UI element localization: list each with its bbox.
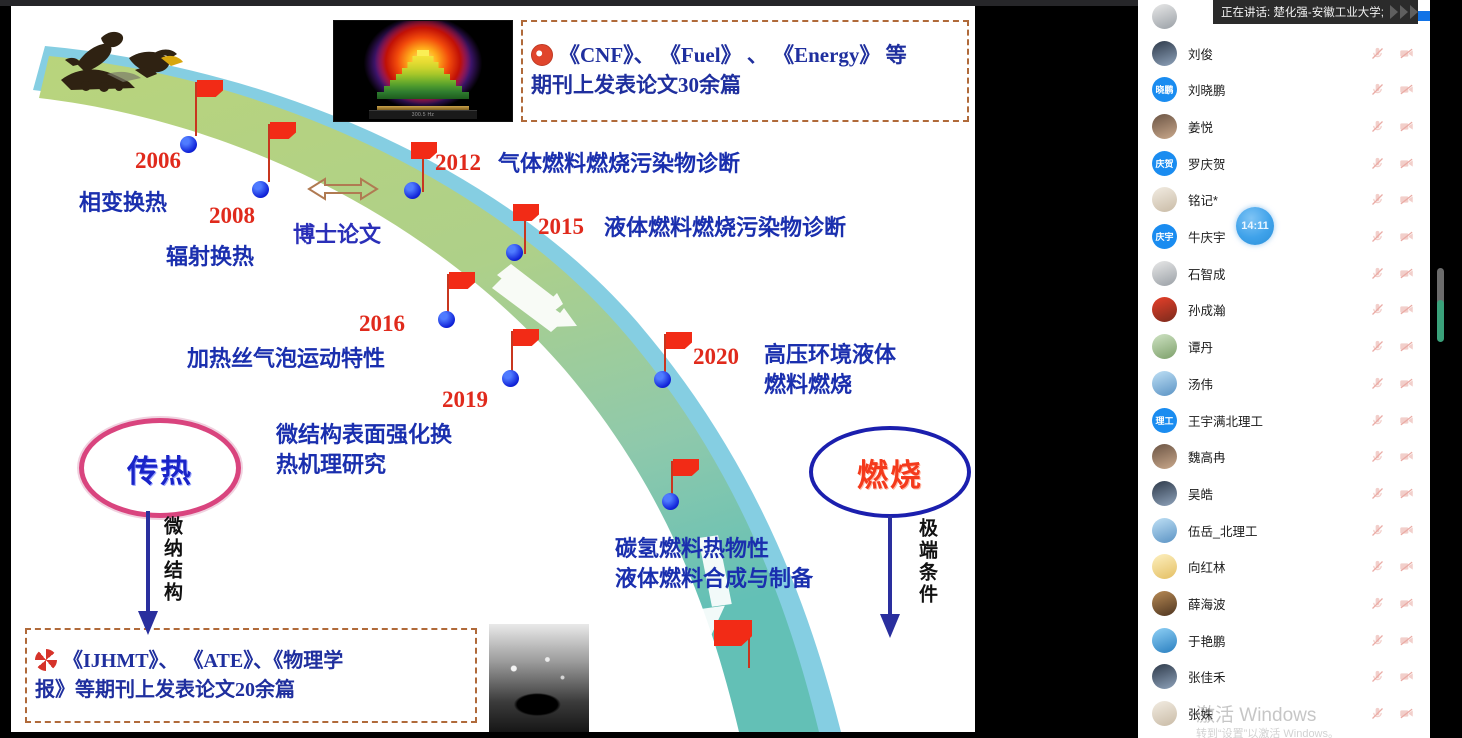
arrow-heat-label: 微纳结构: [158, 516, 185, 604]
desc-2020: 高压环境液体 燃料燃烧: [764, 340, 896, 399]
camera-off-icon[interactable]: [1399, 633, 1414, 648]
oval-heat-transfer: 传热: [79, 418, 241, 518]
mic-muted-icon[interactable]: [1370, 229, 1385, 244]
participant-scrollbar[interactable]: [1438, 0, 1444, 738]
year-2006: 2006: [135, 148, 181, 174]
participant-panel[interactable]: 刘俊晓鹏刘晓鹏姜悦庆贺罗庆贺铭记*庆宇牛庆宇石智成孙成瀚谭丹汤伟理工王宇满北理工…: [1138, 0, 1430, 738]
participant-row[interactable]: 薛海波: [1138, 585, 1430, 622]
publications-top-text: 《CNF》、 《Fuel》 、 《Energy》 等 期刊上发表论文30余篇: [531, 41, 907, 101]
participant-status-icons[interactable]: [1370, 119, 1414, 134]
year-2016: 2016: [359, 311, 405, 337]
camera-off-icon[interactable]: [1399, 192, 1414, 207]
participant-row[interactable]: 张姝: [1138, 695, 1430, 732]
dot-2008: [252, 181, 269, 198]
speaking-toast-text: 正在讲话: 楚化强-安徽工业大学;: [1221, 4, 1384, 20]
desc-2006: 相变换热: [79, 188, 167, 218]
camera-off-icon[interactable]: [1399, 449, 1414, 464]
participant-name: 魏高冉: [1188, 447, 1370, 466]
participant-row[interactable]: 晓鹏刘晓鹏: [1138, 71, 1430, 108]
avatar: [1152, 4, 1177, 29]
camera-off-icon[interactable]: [1399, 596, 1414, 611]
mic-muted-icon[interactable]: [1370, 449, 1385, 464]
participant-row[interactable]: [1138, 732, 1430, 738]
publications-top-box: 《CNF》、 《Fuel》 、 《Energy》 等 期刊上发表论文30余篇: [521, 20, 969, 122]
sound-wave-icon: [1390, 5, 1418, 19]
avatar: [1152, 114, 1177, 139]
participant-row[interactable]: 石智成: [1138, 255, 1430, 292]
participant-row[interactable]: 理工王宇满北理工: [1138, 402, 1430, 439]
participant-status-icons[interactable]: [1370, 523, 1414, 538]
dot-2016: [438, 311, 455, 328]
camera-off-icon[interactable]: [1399, 376, 1414, 391]
participant-row[interactable]: 张佳禾: [1138, 659, 1430, 696]
participant-status-icons[interactable]: [1370, 559, 1414, 574]
participant-name: 铭记*: [1188, 190, 1370, 209]
desc-2019: 微结构表面强化换 热机理研究: [276, 420, 452, 479]
avatar: [1152, 591, 1177, 616]
camera-off-icon[interactable]: [1399, 302, 1414, 317]
participant-name: 向红林: [1188, 557, 1370, 576]
arrow-combustion-label: 极端条件: [913, 518, 940, 606]
participant-status-icons[interactable]: [1370, 596, 1414, 611]
publications-bottom-text: 《IJHMT》、 《ATE》、《物理学 报》等期刊上发表论文20余篇: [35, 647, 343, 704]
avatar: [1152, 444, 1177, 469]
participant-row[interactable]: 刘俊: [1138, 35, 1430, 72]
camera-off-icon[interactable]: [1399, 523, 1414, 538]
avatar: 理工: [1152, 408, 1177, 433]
bottom-road-text: 碳氢燃料热物性 液体燃料合成与制备: [615, 534, 813, 593]
avatar: 庆贺: [1152, 151, 1177, 176]
participant-name: 于艳鹏: [1188, 631, 1370, 650]
mic-muted-icon[interactable]: [1370, 596, 1385, 611]
camera-off-icon[interactable]: [1399, 266, 1414, 281]
participant-status-icons[interactable]: [1370, 706, 1414, 721]
flag-pole-2008: [268, 124, 270, 182]
participant-status-icons[interactable]: [1370, 486, 1414, 501]
avatar: [1152, 628, 1177, 653]
app-window: 300.5 Hz 《CNF》、 《Fuel》 、 《Energy》 等 期刊上发…: [0, 0, 1462, 738]
mic-muted-icon[interactable]: [1370, 413, 1385, 428]
avatar: [1152, 481, 1177, 506]
participant-name: 罗庆贺: [1188, 154, 1370, 173]
panel-right-gap: [1430, 0, 1462, 738]
camera-off-icon[interactable]: [1399, 339, 1414, 354]
oval-heat-transfer-label: 传热: [127, 446, 193, 491]
dot-lower: [662, 493, 679, 510]
camera-off-icon[interactable]: [1399, 559, 1414, 574]
avatar: [1152, 334, 1177, 359]
mic-muted-icon[interactable]: [1370, 156, 1385, 171]
mic-muted-icon[interactable]: [1370, 523, 1385, 538]
camera-off-icon[interactable]: [1399, 156, 1414, 171]
camera-off-icon[interactable]: [1399, 229, 1414, 244]
avatar: [1152, 187, 1177, 212]
participant-row[interactable]: 伍岳_北理工: [1138, 512, 1430, 549]
flame-photo-caption: 300.5 Hz: [369, 110, 477, 119]
camera-off-icon[interactable]: [1399, 486, 1414, 501]
mic-muted-icon[interactable]: [1370, 706, 1385, 721]
participant-name: 伍岳_北理工: [1188, 521, 1370, 540]
participant-status-icons[interactable]: [1370, 449, 1414, 464]
mic-muted-icon[interactable]: [1370, 302, 1385, 317]
dot-2006: [180, 136, 197, 153]
taiji-icon: [531, 44, 553, 66]
publications-bottom-line2: 报》等期刊上发表论文20余篇: [35, 679, 295, 701]
publications-bottom-line1: 《IJHMT》、 《ATE》、《物理学: [63, 650, 343, 672]
participant-scroll-thumb-active[interactable]: [1437, 300, 1444, 342]
year-2015: 2015: [538, 214, 584, 240]
participant-name: 刘晓鹏: [1188, 80, 1370, 99]
time-bubble: 14:11: [1236, 207, 1274, 245]
avatar: [1152, 701, 1177, 726]
oval-combustion: 燃烧: [809, 426, 971, 518]
dot-2019: [502, 370, 519, 387]
participant-row[interactable]: 孙成瀚: [1138, 292, 1430, 329]
participant-name: 姜悦: [1188, 117, 1370, 136]
publications-bottom-box: 《IJHMT》、 《ATE》、《物理学 报》等期刊上发表论文20余篇: [25, 628, 477, 723]
participant-status-icons[interactable]: [1370, 633, 1414, 648]
camera-off-icon[interactable]: [1399, 82, 1414, 97]
participant-name: 汤伟: [1188, 374, 1370, 393]
avatar: 庆宇: [1152, 224, 1177, 249]
screen-share-stage: 300.5 Hz 《CNF》、 《Fuel》 、 《Energy》 等 期刊上发…: [0, 6, 1138, 738]
participant-status-icons[interactable]: [1370, 266, 1414, 281]
mic-muted-icon[interactable]: [1370, 266, 1385, 281]
participant-status-icons[interactable]: [1370, 669, 1414, 684]
doctoral-thesis-label: 博士论文: [293, 220, 381, 250]
arrow-combustion-down: [877, 516, 903, 640]
mic-muted-icon[interactable]: [1370, 82, 1385, 97]
mic-muted-icon[interactable]: [1370, 46, 1385, 61]
participant-name: 刘俊: [1188, 44, 1370, 63]
publications-top-line1: 《CNF》、 《Fuel》 、 《Energy》 等: [559, 43, 907, 67]
historic-photo: [489, 624, 589, 732]
participant-status-icons[interactable]: [1370, 156, 1414, 171]
year-2020: 2020: [693, 344, 739, 370]
participant-row[interactable]: 庆宇牛庆宇: [1138, 218, 1430, 255]
participant-row[interactable]: 庆贺罗庆贺: [1138, 145, 1430, 182]
avatar: [1152, 518, 1177, 543]
participant-status-icons[interactable]: [1370, 229, 1414, 244]
participant-row[interactable]: 姜悦: [1138, 108, 1430, 145]
desc-2016: 加热丝气泡运动特性: [187, 344, 385, 374]
year-2012: 2012: [435, 150, 481, 176]
avatar: [1152, 554, 1177, 579]
participant-row[interactable]: 于艳鹏: [1138, 622, 1430, 659]
flag-pole-2006: [195, 82, 197, 136]
avatar: [1152, 371, 1177, 396]
oval-combustion-label: 燃烧: [857, 450, 923, 495]
participant-name: 牛庆宇: [1188, 227, 1370, 246]
year-2019: 2019: [442, 387, 488, 413]
participant-row[interactable]: 向红林: [1138, 549, 1430, 586]
mic-muted-icon[interactable]: [1370, 559, 1385, 574]
participant-name: 张佳禾: [1188, 667, 1370, 686]
mic-muted-icon[interactable]: [1370, 119, 1385, 134]
dot-2015: [506, 244, 523, 261]
year-2008: 2008: [209, 203, 255, 229]
pinwheel-icon: [35, 649, 57, 671]
avatar: [1152, 261, 1177, 286]
avatar: 晓鹏: [1152, 77, 1177, 102]
mic-muted-icon[interactable]: [1370, 669, 1385, 684]
participant-name: 薛海波: [1188, 594, 1370, 613]
participant-status-icons[interactable]: [1370, 192, 1414, 207]
avatar: [1152, 41, 1177, 66]
participant-status-icons[interactable]: [1370, 46, 1414, 61]
flame-photo: 300.5 Hz: [333, 20, 513, 122]
camera-off-icon[interactable]: [1399, 706, 1414, 721]
desc-2015: 液体燃料燃烧污染物诊断: [604, 213, 846, 243]
participant-row[interactable]: 魏高冉: [1138, 438, 1430, 475]
chariot-illustration: [49, 24, 204, 104]
presentation-slide: 300.5 Hz 《CNF》、 《Fuel》 、 《Energy》 等 期刊上发…: [11, 6, 975, 732]
camera-off-icon[interactable]: [1399, 413, 1414, 428]
speaking-toast: 正在讲话: 楚化强-安徽工业大学;: [1213, 0, 1418, 24]
camera-off-icon[interactable]: [1399, 46, 1414, 61]
double-arrow-icon: [295, 174, 391, 204]
publications-top-line2: 期刊上发表论文30余篇: [531, 73, 741, 97]
participant-status-icons[interactable]: [1370, 82, 1414, 97]
participant-name: 孙成瀚: [1188, 300, 1370, 319]
dot-2012: [404, 182, 421, 199]
mic-muted-icon[interactable]: [1370, 376, 1385, 391]
participant-row[interactable]: 谭丹: [1138, 328, 1430, 365]
mic-muted-icon[interactable]: [1370, 192, 1385, 207]
participant-status-icons[interactable]: [1370, 413, 1414, 428]
participant-row[interactable]: 铭记*: [1138, 182, 1430, 219]
participant-status-icons[interactable]: [1370, 302, 1414, 317]
participant-name: 吴皓: [1188, 484, 1370, 503]
mic-muted-icon[interactable]: [1370, 633, 1385, 648]
dot-2020: [654, 371, 671, 388]
participant-name: 张姝: [1188, 704, 1370, 723]
mic-muted-icon[interactable]: [1370, 486, 1385, 501]
camera-off-icon[interactable]: [1399, 669, 1414, 684]
participant-row[interactable]: 吴皓: [1138, 475, 1430, 512]
desc-2008: 辐射换热: [166, 242, 254, 272]
participant-name: 石智成: [1188, 264, 1370, 283]
desc-2012: 气体燃料燃烧污染物诊断: [498, 149, 740, 179]
avatar: [1152, 664, 1177, 689]
mic-muted-icon[interactable]: [1370, 339, 1385, 354]
participant-name: 谭丹: [1188, 337, 1370, 356]
camera-off-icon[interactable]: [1399, 119, 1414, 134]
participant-status-icons[interactable]: [1370, 376, 1414, 391]
avatar: [1152, 297, 1177, 322]
participant-status-icons[interactable]: [1370, 339, 1414, 354]
participant-row[interactable]: 汤伟: [1138, 365, 1430, 402]
participant-name: 王宇满北理工: [1188, 411, 1370, 430]
